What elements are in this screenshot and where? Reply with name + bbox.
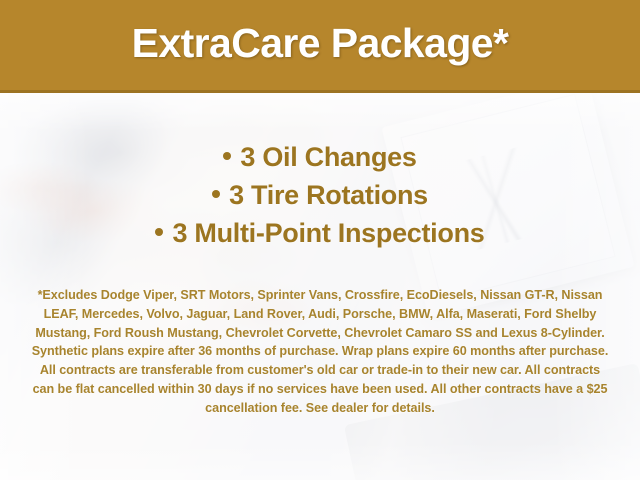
benefit-label: 3 Oil Changes bbox=[240, 142, 416, 172]
list-item: 3 Multi-Point Inspections bbox=[0, 214, 640, 252]
extracare-package-banner: ExtraCare Package* 3 Oil Changes 3 Tire … bbox=[0, 0, 640, 480]
bullet-icon bbox=[212, 190, 220, 198]
disclaimer-text: *Excludes Dodge Viper, SRT Motors, Sprin… bbox=[28, 286, 612, 418]
benefit-label: 3 Multi-Point Inspections bbox=[172, 218, 484, 248]
bullet-icon bbox=[155, 228, 163, 236]
header-band: ExtraCare Package* bbox=[0, 0, 640, 93]
benefit-label: 3 Tire Rotations bbox=[229, 180, 428, 210]
list-item: 3 Oil Changes bbox=[0, 138, 640, 176]
bullet-icon bbox=[223, 152, 231, 160]
benefits-list: 3 Oil Changes 3 Tire Rotations 3 Multi-P… bbox=[0, 138, 640, 252]
list-item: 3 Tire Rotations bbox=[0, 176, 640, 214]
page-title: ExtraCare Package* bbox=[132, 23, 509, 68]
